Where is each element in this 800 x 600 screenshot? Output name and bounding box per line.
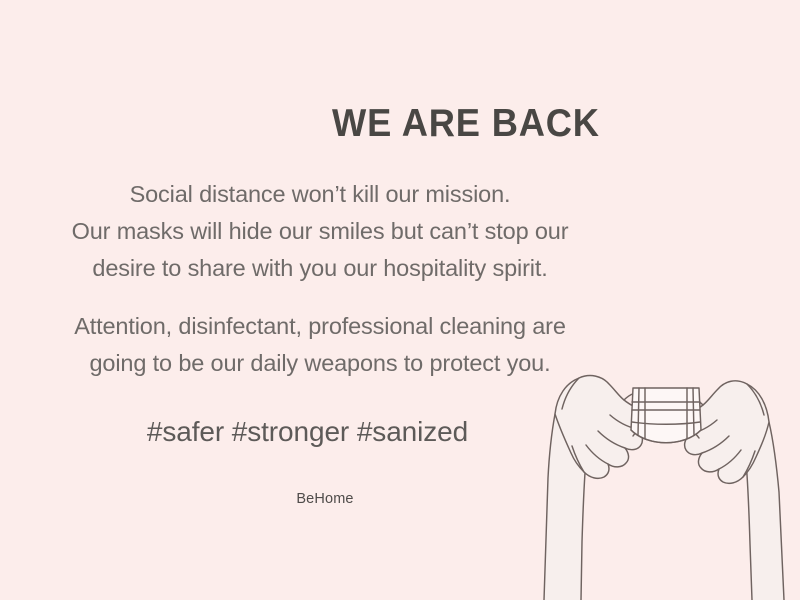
page-title: WE ARE BACK xyxy=(33,104,800,145)
brand-signature: BeHome xyxy=(0,491,650,507)
hashtag-line: #safer #stronger #sanized xyxy=(0,416,615,448)
paragraph-line: going to be our daily weapons to protect… xyxy=(0,345,640,382)
paragraph-line: Attention, disinfectant, professional cl… xyxy=(0,308,640,345)
paragraph-line: Social distance won’t kill our mission. xyxy=(0,176,640,213)
body-paragraph-2: Attention, disinfectant, professional cl… xyxy=(0,308,640,382)
paragraph-line: desire to share with you our hospitality… xyxy=(0,250,640,287)
poster-canvas: WE ARE BACK Social distance won’t kill o… xyxy=(0,0,800,600)
body-paragraph-1: Social distance won’t kill our mission. … xyxy=(0,176,640,287)
paragraph-line: Our masks will hide our smiles but can’t… xyxy=(0,213,640,250)
poster-text-layer: WE ARE BACK Social distance won’t kill o… xyxy=(0,0,800,600)
